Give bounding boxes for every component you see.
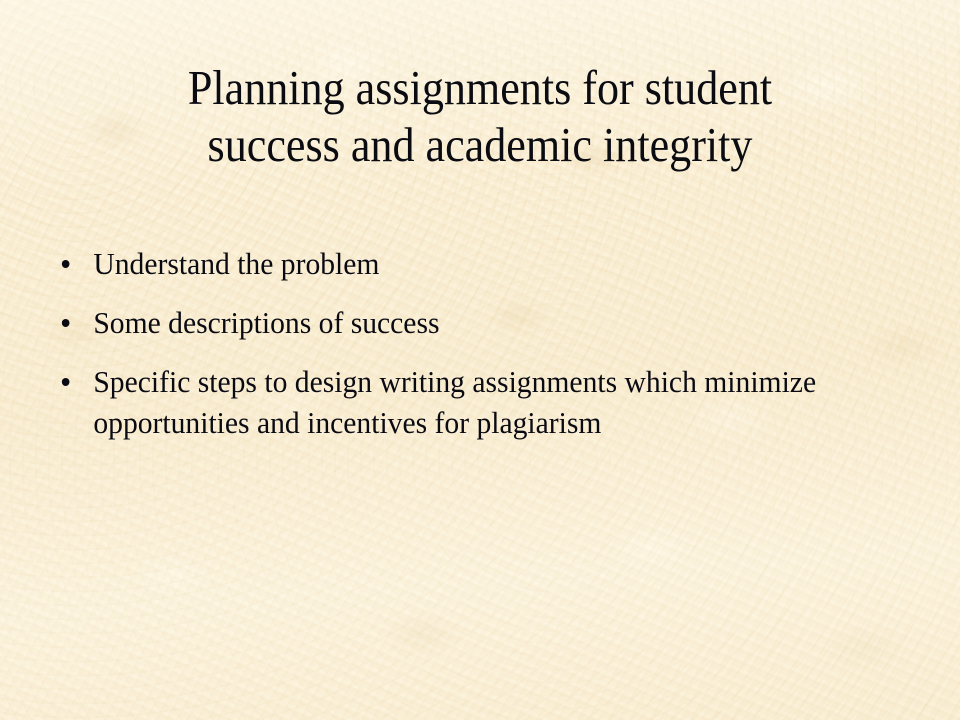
- list-item: Understand the problem: [58, 243, 870, 284]
- slide-title: Planning assignments for student success…: [91, 59, 869, 173]
- list-item: Some descriptions of success: [58, 302, 870, 343]
- bullet-text-2: Some descriptions of success: [93, 302, 869, 343]
- bullet-list: Understand the problem Some descriptions…: [58, 243, 908, 443]
- slide-title-line-2: success and academic integrity: [91, 116, 869, 173]
- presentation-slide: Planning assignments for student success…: [0, 0, 960, 720]
- bullet-text-3: Specific steps to design writing assignm…: [93, 361, 869, 443]
- bullet-text-1: Understand the problem: [93, 243, 869, 284]
- round-bullet-icon: [62, 378, 70, 386]
- list-item: Specific steps to design writing assignm…: [58, 361, 870, 443]
- round-bullet-icon: [62, 319, 70, 327]
- slide-content: Planning assignments for student success…: [0, 0, 960, 720]
- slide-title-line-1: Planning assignments for student: [91, 59, 869, 116]
- round-bullet-icon: [62, 260, 70, 268]
